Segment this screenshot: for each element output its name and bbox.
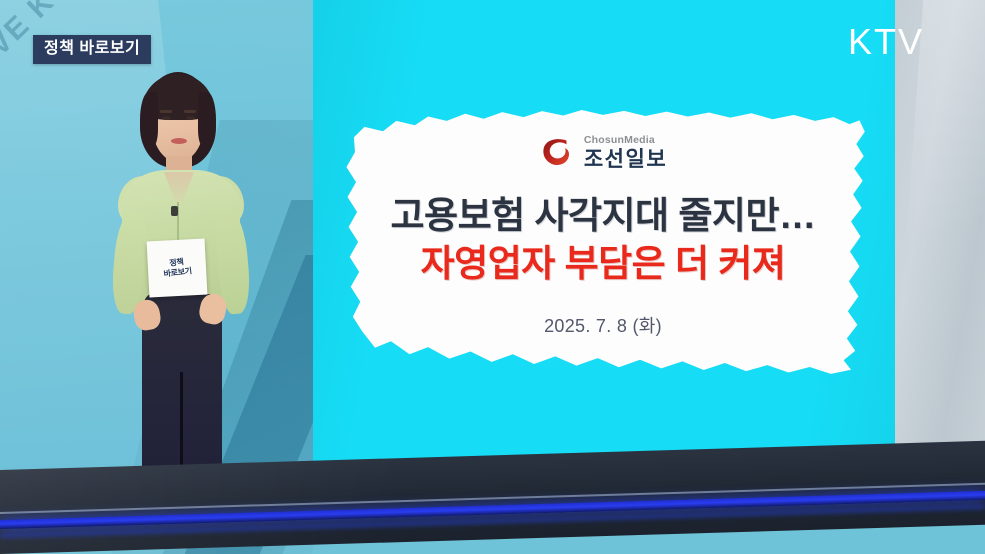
headline-line-2: 자영업자 부담은 더 커져 [338,242,868,286]
presenter-cue-card: 정책 바로보기 [147,239,208,298]
chosun-logo-english: ChosunMedia [584,135,655,146]
presenter-eye-left [162,116,171,120]
chosun-swoosh-icon [539,135,573,169]
chosun-logo-korean: 조선일보 [584,149,667,170]
presenter-hair-side-left [140,92,158,148]
news-date: 2025. 7. 8 (화) [338,312,868,338]
cue-card-line-2: 바로보기 [163,266,192,278]
news-clipping-card: ChosunMedia 조선일보 고용보험 사각지대 줄지만… 자영업자 부담은… [338,110,868,382]
ktv-channel-logo: KTV [848,24,924,60]
presenter-cue-card-text: 정책 바로보기 [162,256,192,279]
presenter-eye-right [186,116,195,120]
broadcast-screen: LIVE KOREA LIVE LIVE KOREA [0,0,985,554]
chosun-media-logo: ChosunMedia 조선일보 [338,135,868,170]
chosun-logo-text: ChosunMedia 조선일보 [584,135,667,170]
presenter-hair-side-right [198,92,216,148]
news-clipping-content: ChosunMedia 조선일보 고용보험 사각지대 줄지만… 자영업자 부담은… [338,110,868,382]
presenter-eyebrow-left [160,110,172,113]
cue-card-line-1: 정책 [169,257,184,268]
program-title-banner: 정책 바로보기 [33,35,151,64]
presenter-lapel-microphone [171,206,178,216]
presenter-lips [171,138,187,144]
news-headline: 고용보험 사각지대 줄지만… 자영업자 부담은 더 커져 [338,194,868,285]
presenter-eyebrow-right [184,110,196,113]
headline-line-1: 고용보험 사각지대 줄지만… [338,194,868,238]
